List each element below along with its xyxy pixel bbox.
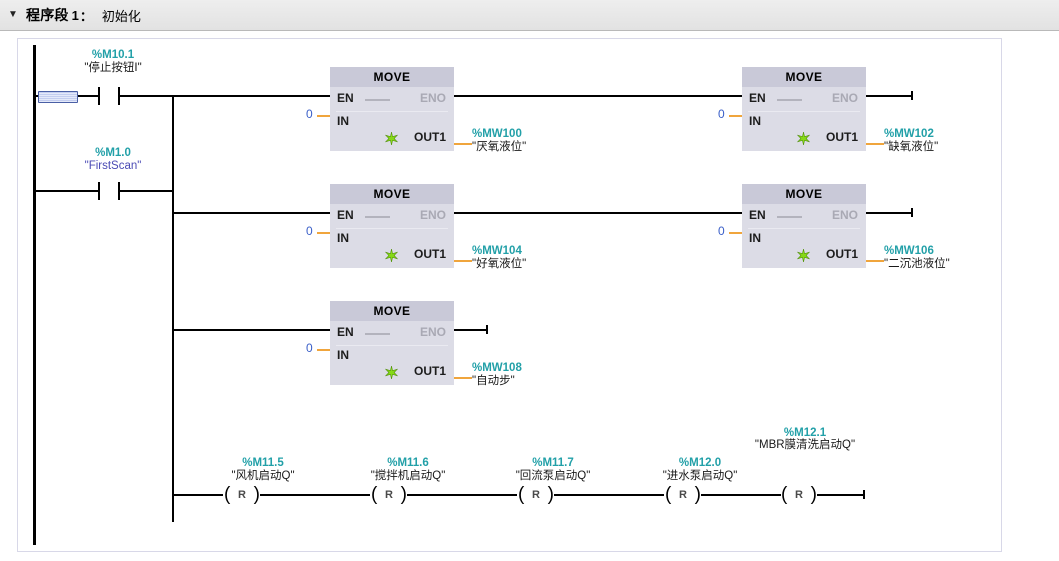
move-1-in-wire [317,115,330,117]
coil-label-1: %M11.6 "搅拌机启动Q" [343,457,473,483]
ladder-canvas[interactable]: %M10.1 "停止按钮I" %M1.0 "FirstScan" MOVE EN… [17,38,1002,552]
block-title: MOVE [330,184,454,204]
row2-wire-out [866,212,912,214]
move-5-in-value[interactable]: 0 [306,341,313,355]
network-number: 1 [72,8,79,23]
eno-dash [365,333,390,335]
starburst-icon [797,132,810,145]
eno-dash [777,99,802,101]
move-1-out-wire [454,143,472,145]
operand-symbol: "二沉池液位" [884,258,950,271]
contact-left-bar [98,182,100,200]
move-5-out-operand: %MW108 "自动步" [472,362,522,388]
block-en-label: EN [749,91,766,105]
block-en-label: EN [337,208,354,222]
row3-wire-out [454,329,487,331]
move-3-out-operand: %MW104 "好氧液位" [472,245,526,271]
network-comment[interactable]: 初始化 [102,6,141,25]
coil-reset-m11-6[interactable]: ( R ) [371,485,407,505]
operand-address: %MW100 [472,128,526,141]
move-3-in-value[interactable]: 0 [306,224,313,238]
operand-symbol: "好氧液位" [472,258,526,271]
contact-label-0: %M10.1 "停止按钮I" [53,49,173,75]
block-out-label: OUT1 [826,130,858,144]
block-in-label: IN [337,231,349,245]
move-block-4[interactable]: MOVE EN ENO IN OUT1 [742,184,866,268]
move-3-out-wire [454,260,472,262]
eno-dash [365,216,390,218]
block-divider [748,111,860,112]
operand-address: %MW104 [472,245,526,258]
starburst-icon [385,249,398,262]
coil-address: %M12.0 [635,457,765,470]
starburst-icon [385,132,398,145]
contact-address: %M10.1 [53,49,173,62]
coil-symbol: "搅拌机启动Q" [343,470,473,483]
starburst-icon [385,366,398,379]
block-divider [748,228,860,229]
row3-end-cap [486,325,488,334]
block-out-label: OUT1 [414,364,446,378]
rung-wire-contact-1-out [120,190,174,192]
coil-address: %M11.5 [203,457,323,470]
block-in-label: IN [749,231,761,245]
selection-marker[interactable] [38,91,78,103]
coil-reset-m11-7[interactable]: ( R ) [518,485,554,505]
block-title: MOVE [330,67,454,87]
move-4-in-value[interactable]: 0 [718,224,725,238]
eno-dash [777,216,802,218]
block-eno-label: ENO [420,325,446,339]
contact-symbol: "停止按钮I" [53,62,173,75]
block-en-label: EN [749,208,766,222]
contact-m10-1[interactable] [98,87,120,105]
chevron-down-icon[interactable]: ▼ [0,0,26,30]
coil-label-2: %M11.7 "回流泵启动Q" [488,457,618,483]
move-2-in-value[interactable]: 0 [718,107,725,121]
coil-row-wire-0 [172,494,223,496]
coil-symbol: "风机启动Q" [203,470,323,483]
coil-row-wire-5 [817,494,864,496]
block-divider [336,345,448,346]
operand-symbol: "缺氧液位" [884,141,938,154]
block-out-label: OUT1 [414,247,446,261]
eno-dash [365,99,390,101]
block-in-label: IN [337,348,349,362]
block-eno-label: ENO [420,208,446,222]
row1-wire-in [172,95,330,97]
operand-address: %MW102 [884,128,938,141]
move-4-out-wire [866,260,884,262]
row3-wire-in [172,329,330,331]
move-1-in-value[interactable]: 0 [306,107,313,121]
rung-wire-contact-0-out [120,95,174,97]
contact-address: %M1.0 [53,147,173,160]
coil-row-wire-2 [407,494,517,496]
move-4-in-wire [729,232,742,234]
block-eno-label: ENO [832,91,858,105]
coil-row-wire-1 [260,494,370,496]
coil-label-4: %M12.1 "MBR膜清洗启动Q" [748,427,862,451]
operand-address: %MW106 [884,245,950,258]
coil-symbol: "MBR膜清洗启动Q" [748,440,862,451]
block-divider [336,228,448,229]
block-en-label: EN [337,325,354,339]
move-4-out-operand: %MW106 "二沉池液位" [884,245,950,271]
move-2-out-wire [866,143,884,145]
move-2-in-wire [729,115,742,117]
block-out-label: OUT1 [414,130,446,144]
row1-end-cap [911,91,913,100]
coil-address: %M11.6 [343,457,473,470]
move-1-out-operand: %MW100 "厌氧液位" [472,128,526,154]
contact-left-bar [98,87,100,105]
operand-symbol: "自动步" [472,375,522,388]
row2-wire-mid [454,212,742,214]
starburst-icon [797,249,810,262]
contact-m1-0[interactable] [98,182,120,200]
move-5-in-wire [317,349,330,351]
network-header: ▼ 程序段 1 ： 初始化 [0,0,1059,31]
block-eno-label: ENO [420,91,446,105]
network-label: 程序段 [26,5,69,25]
contact-symbol: "FirstScan" [53,160,173,173]
contact-label-1: %M1.0 "FirstScan" [53,147,173,173]
move-2-out-operand: %MW102 "缺氧液位" [884,128,938,154]
coil-row-wire-3 [554,494,664,496]
row1-wire-mid [454,95,742,97]
operand-symbol: "厌氧液位" [472,141,526,154]
coil-symbol: "回流泵启动Q" [488,470,618,483]
row2-end-cap [911,208,913,217]
coil-reset-m11-5[interactable]: ( R ) [224,485,260,505]
block-title: MOVE [330,301,454,321]
coil-label-0: %M11.5 "风机启动Q" [203,457,323,483]
row1-wire-out [866,95,912,97]
coil-label-3: %M12.0 "进水泵启动Q" [635,457,765,483]
block-title: MOVE [742,184,866,204]
move-block-3[interactable]: MOVE EN ENO IN OUT1 [330,184,454,268]
block-in-label: IN [337,114,349,128]
block-title: MOVE [742,67,866,87]
move-block-1[interactable]: MOVE EN ENO IN OUT1 [330,67,454,151]
coil-row-end-cap [863,490,865,499]
block-out-label: OUT1 [826,247,858,261]
block-eno-label: ENO [832,208,858,222]
block-divider [336,111,448,112]
coil-symbol: "进水泵启动Q" [635,470,765,483]
move-block-2[interactable]: MOVE EN ENO IN OUT1 [742,67,866,151]
move-block-5[interactable]: MOVE EN ENO IN OUT1 [330,301,454,385]
branch-vertical-left [33,95,35,192]
move-5-out-wire [454,377,472,379]
block-en-label: EN [337,91,354,105]
coil-row-wire-4 [701,494,781,496]
coil-address: %M11.7 [488,457,618,470]
rung-wire-rail-to-contact-1 [33,190,98,192]
row2-wire-in [172,212,330,214]
operand-address: %MW108 [472,362,522,375]
block-in-label: IN [749,114,761,128]
network-colon: ： [80,6,93,25]
coil-reset-m12-1[interactable]: ( R ) [781,485,817,505]
branch-vertical-main [172,95,174,522]
move-3-in-wire [317,232,330,234]
coil-reset-m12-0[interactable]: ( R ) [665,485,701,505]
